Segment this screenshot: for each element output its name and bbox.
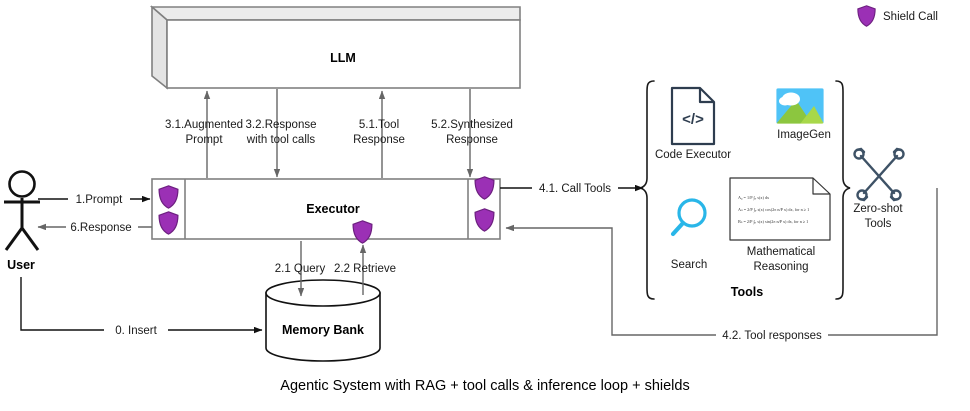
tool-zero-shot[interactable]: Zero-shot Tools (853, 149, 903, 230)
tools-left-brace (640, 81, 654, 299)
edge-label-line1: 5.2.Synthesized (431, 119, 513, 131)
edge-4-1-call-tools: 4.1. Call Tools (500, 180, 643, 195)
edge-1-prompt: 1.Prompt (38, 191, 150, 206)
llm-cube-side (152, 7, 167, 88)
edge-label-line2: Response (353, 134, 405, 146)
tool-search[interactable]: Search (671, 200, 707, 271)
code-glyph: </> (682, 111, 704, 128)
executor-label: Executor (306, 202, 360, 216)
tool-label: Code Executor (655, 149, 731, 161)
edge-5-2-synthesized-response: 5.2.Synthesized Response (431, 89, 513, 177)
shield-icon (353, 221, 372, 243)
edge-label-line1: 3.1.Augmented (165, 119, 243, 131)
crossed-wrenches-icon (855, 149, 904, 200)
user-head (10, 172, 35, 197)
tool-label-line1: Zero-shot (853, 203, 903, 215)
edge-0-insert: 0. Insert (21, 277, 262, 337)
tools-right-brace (836, 81, 850, 299)
tool-label: Search (671, 259, 707, 271)
tool-imagegen[interactable]: ImageGen (776, 88, 831, 141)
edge-label: 4.2. Tool responses (722, 330, 822, 342)
edge-3-1-augmented-prompt: 3.1.Augmented Prompt (165, 91, 243, 178)
tool-label-line2: Tools (865, 218, 892, 230)
legend-label: Shield Call (883, 11, 938, 23)
node-llm[interactable]: LLM (152, 7, 520, 88)
edge-label: 0. Insert (115, 325, 157, 337)
edge-label: 2.1 Query (275, 263, 326, 275)
user-label: User (7, 258, 35, 272)
edge-label-line2: with tool calls (246, 134, 316, 146)
edge-label-line1: 5.1.Tool (359, 119, 399, 131)
edge-3-2-response-with-tool-calls: 3.2.Response with tool calls (246, 89, 317, 177)
edge-label-line1: 3.2.Response (246, 119, 317, 131)
tools-group-label: Tools (731, 285, 763, 299)
edge-5-1-tool-response: 5.1.Tool Response (353, 91, 405, 178)
tool-label-line2: Reasoning (754, 261, 809, 273)
shield-icon (858, 6, 875, 26)
magnifier-icon (673, 200, 705, 234)
diagram-caption: Agentic System with RAG + tool calls & i… (280, 378, 689, 394)
edge-label: 6.Response (70, 222, 131, 234)
edge-label: 4.1. Call Tools (539, 183, 611, 195)
legend-shield-call: Shield Call (858, 6, 938, 26)
user-leg-left (6, 228, 22, 250)
tool-label: ImageGen (777, 129, 831, 141)
edge-label: 2.2 Retrieve (334, 263, 396, 275)
user-leg-right (22, 228, 38, 250)
llm-label: LLM (330, 51, 356, 65)
node-executor[interactable]: Executor (152, 177, 500, 243)
edge-label-line2: Response (446, 134, 498, 146)
diagram-canvas: LLM Shield Call 3.1.Augmented Prompt 3.2… (0, 0, 970, 411)
tool-label-line1: Mathematical (747, 246, 815, 258)
edge-label: 1.Prompt (76, 194, 123, 206)
edge-6-response: 6.Response (38, 219, 152, 234)
tool-math-reasoning[interactable]: A₀ = 1/P ∫ₚ s(x) dx Aₙ = 2/P ∫ₚ s(x) cos… (730, 178, 830, 273)
edge-label-line2: Prompt (185, 134, 223, 146)
tool-code-executor[interactable]: </> Code Executor (655, 88, 731, 161)
image-icon (776, 88, 824, 124)
node-user[interactable]: User (4, 172, 40, 273)
llm-cube-top (152, 7, 520, 20)
memory-bank-label: Memory Bank (282, 323, 364, 337)
